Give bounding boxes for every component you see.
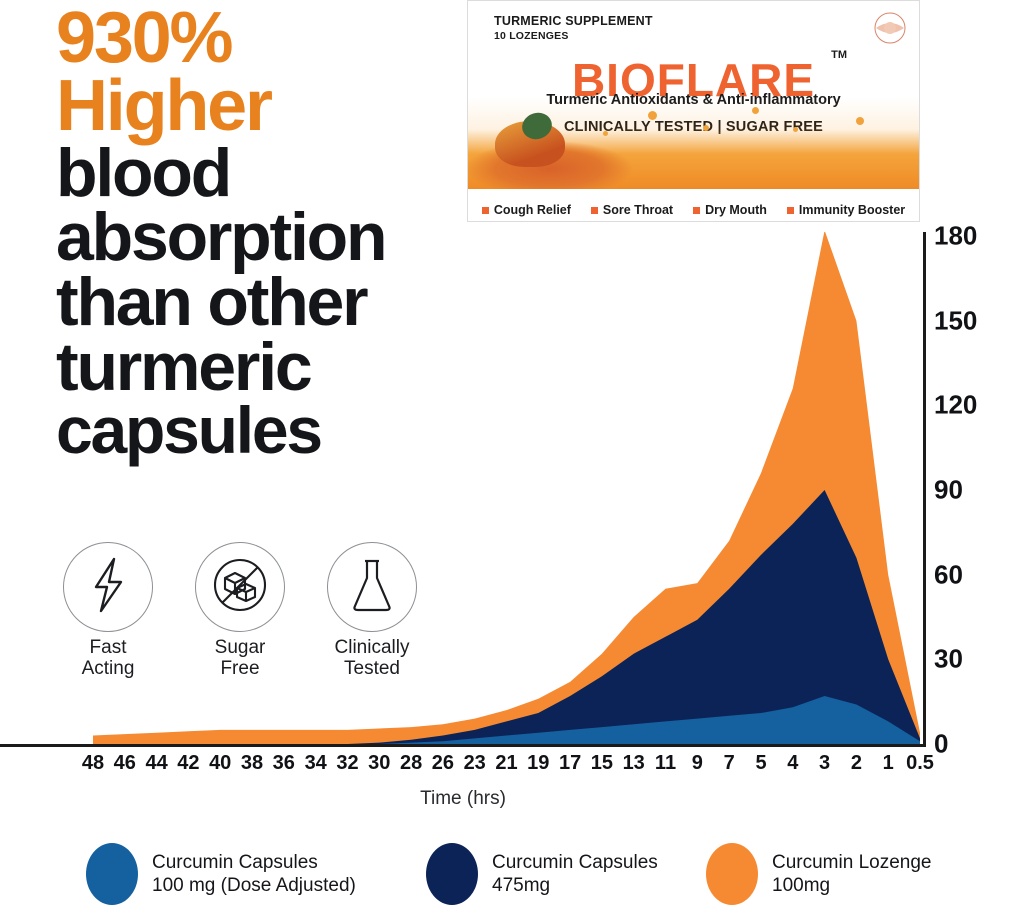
x-tick-0.5: 0.5 <box>906 752 934 775</box>
legend-item-capsules-475mg[interactable]: Curcumin Capsules475mg <box>426 836 706 912</box>
x-axis-line <box>0 744 926 747</box>
benefit-item: Dry Mouth <box>693 203 767 217</box>
benefit-label: Sore Throat <box>603 203 673 217</box>
product-benefits-list: Cough Relief Sore Throat Dry Mouth Immun… <box>468 203 919 217</box>
legend-color-swatch <box>426 843 478 905</box>
x-tick-26: 26 <box>432 752 454 775</box>
legend-color-swatch <box>706 843 758 905</box>
trademark-symbol: TM <box>831 49 847 61</box>
x-axis-title: Time (hrs) <box>0 788 926 810</box>
x-tick-46: 46 <box>114 752 136 775</box>
x-tick-17: 17 <box>559 752 581 775</box>
x-tick-30: 30 <box>368 752 390 775</box>
x-tick-1: 1 <box>883 752 894 775</box>
x-tick-44: 44 <box>145 752 167 775</box>
y-tick-90: 90 <box>934 475 963 506</box>
x-tick-2: 2 <box>851 752 862 775</box>
x-tick-28: 28 <box>400 752 422 775</box>
y-tick-30: 30 <box>934 644 963 675</box>
x-tick-40: 40 <box>209 752 231 775</box>
x-tick-9: 9 <box>692 752 703 775</box>
bullet-square-icon <box>693 207 700 214</box>
benefit-item: Sore Throat <box>591 203 673 217</box>
bullet-square-icon <box>482 207 489 214</box>
y-axis-line <box>923 232 926 747</box>
x-tick-36: 36 <box>273 752 295 775</box>
x-tick-5: 5 <box>755 752 766 775</box>
turmeric-splash-graphic <box>468 97 919 189</box>
x-tick-11: 11 <box>655 752 676 775</box>
x-tick-4: 4 <box>787 752 798 775</box>
legend-item-lozenge-100mg[interactable]: Curcumin Lozenge100mg <box>706 836 986 912</box>
benefit-item: Immunity Booster <box>787 203 905 217</box>
headline-line-2: Higher <box>56 72 526 140</box>
x-axis-tick-labels: 4846444240383634323028262321191715131197… <box>0 752 940 782</box>
headline-line-3: blood <box>56 141 526 206</box>
benefit-label: Dry Mouth <box>705 203 767 217</box>
bullet-square-icon <box>591 207 598 214</box>
chart-legend: Curcumin Capsules100 mg (Dose Adjusted) … <box>0 836 1024 912</box>
benefit-label: Cough Relief <box>494 203 571 217</box>
x-tick-3: 3 <box>819 752 830 775</box>
headline-line-1: 930% <box>56 4 526 72</box>
x-tick-21: 21 <box>495 752 517 775</box>
benefit-label: Immunity Booster <box>799 203 905 217</box>
bullet-square-icon <box>787 207 794 214</box>
benefit-item: Cough Relief <box>482 203 571 217</box>
legend-label: Curcumin Capsules100 mg (Dose Adjusted) <box>152 851 356 897</box>
x-tick-13: 13 <box>623 752 645 775</box>
legend-item-capsules-100mg[interactable]: Curcumin Capsules100 mg (Dose Adjusted) <box>86 836 426 912</box>
product-count: 10 LOZENGES <box>494 30 569 42</box>
x-tick-34: 34 <box>305 752 327 775</box>
product-kicker: TURMERIC SUPPLEMENT <box>494 14 653 28</box>
chart-plot-area <box>0 232 926 746</box>
x-tick-7: 7 <box>724 752 735 775</box>
x-tick-23: 23 <box>464 752 486 775</box>
chart-svg <box>0 232 926 746</box>
legend-label: Curcumin Lozenge100mg <box>772 851 931 897</box>
x-tick-42: 42 <box>177 752 199 775</box>
y-tick-150: 150 <box>934 305 977 336</box>
x-tick-32: 32 <box>336 752 358 775</box>
y-tick-120: 120 <box>934 390 977 421</box>
x-tick-15: 15 <box>591 752 613 775</box>
infographic-page: 930% Higher blood absorption than other … <box>0 0 1024 912</box>
legend-label: Curcumin Capsules475mg <box>492 851 658 897</box>
absorption-chart: 0306090120150180 Curcumin Concentration … <box>0 232 1024 812</box>
y-tick-180: 180 <box>934 221 977 252</box>
splash-droplets <box>468 97 919 189</box>
x-tick-19: 19 <box>527 752 549 775</box>
legend-color-swatch <box>86 843 138 905</box>
series-area-1 <box>93 490 920 744</box>
x-tick-38: 38 <box>241 752 263 775</box>
globally-patented-badge-icon <box>869 7 911 49</box>
y-tick-60: 60 <box>934 559 963 590</box>
product-package-image: TURMERIC SUPPLEMENT 10 LOZENGES BIOFLARE… <box>467 0 920 222</box>
x-tick-48: 48 <box>82 752 104 775</box>
y-axis-tick-labels: 0306090120150180 <box>934 232 996 747</box>
